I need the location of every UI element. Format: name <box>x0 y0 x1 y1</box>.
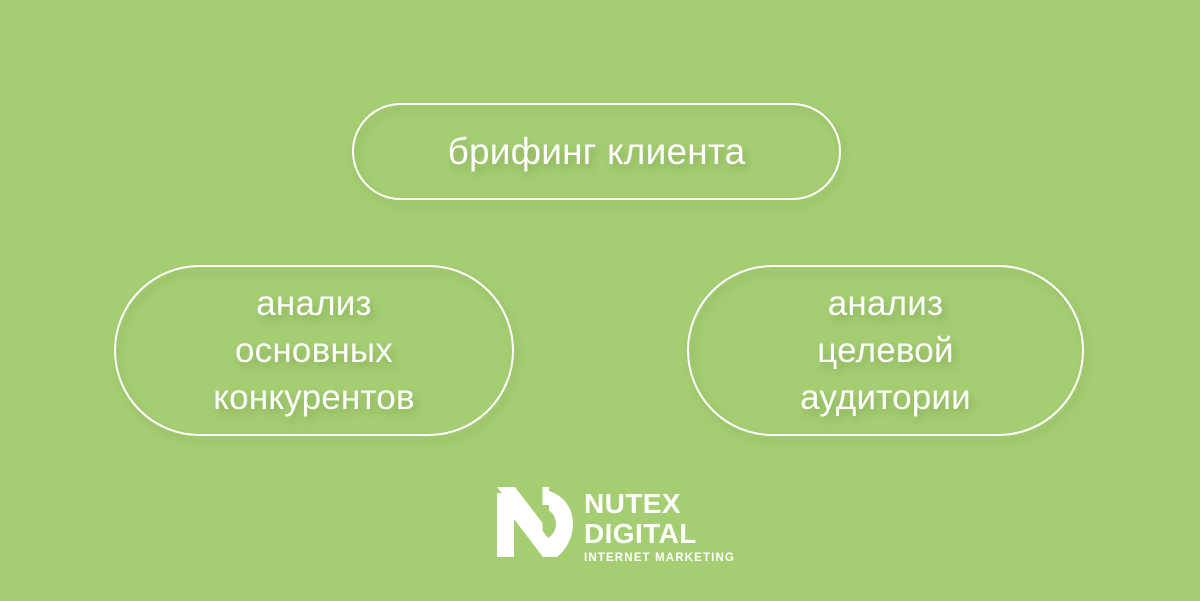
nd-monogram-icon <box>497 487 573 557</box>
diagram-node-competitors[interactable]: анализ основных конкурентов <box>114 265 514 436</box>
logo-line-nutex: NUTEX <box>584 489 681 519</box>
diagram-node-audience[interactable]: анализ целевой аудитории <box>687 265 1084 436</box>
diagram-node-audience-label: анализ целевой аудитории <box>800 280 971 421</box>
slide-canvas: брифинг клиента анализ основных конкурен… <box>0 0 1200 601</box>
logo-wordmark: NUTEX DIGITAL INTERNET MARKETING <box>584 487 735 566</box>
logo-tagline: INTERNET MARKETING <box>584 551 735 566</box>
logo-line-digital: DIGITAL <box>584 519 697 549</box>
diagram-node-brief[interactable]: брифинг клиента <box>352 103 841 200</box>
diagram-node-brief-label: брифинг клиента <box>448 130 746 174</box>
diagram-node-competitors-label: анализ основных конкурентов <box>213 280 414 421</box>
brand-logo: NUTEX DIGITAL INTERNET MARKETING <box>497 487 709 563</box>
